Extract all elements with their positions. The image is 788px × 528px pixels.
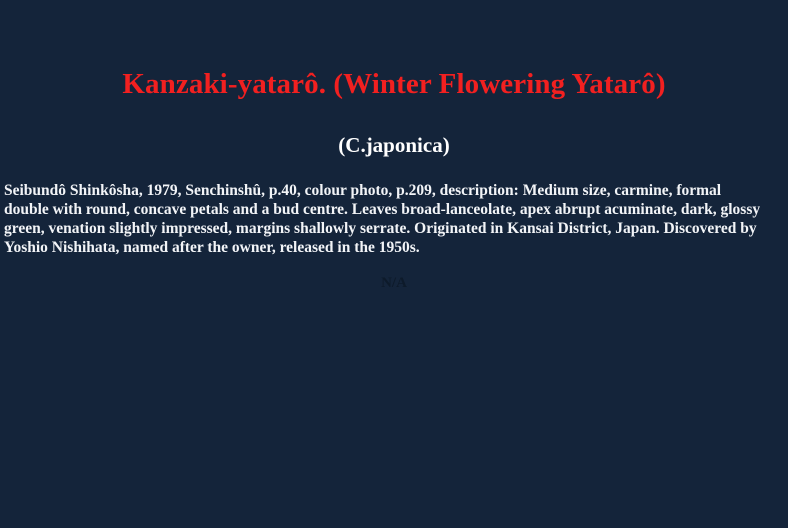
cultivar-page: Kanzaki-yatarô. (Winter Flowering Yatarô… bbox=[0, 0, 788, 528]
species-subtitle: (C.japonica) bbox=[0, 132, 788, 158]
cultivar-image-placeholder: N/A bbox=[0, 274, 788, 293]
description-text: Seibundô Shinkôsha, 1979, Senchinshû, p.… bbox=[4, 181, 766, 258]
image-alt-text: N/A bbox=[381, 275, 407, 291]
page-title: Kanzaki-yatarô. (Winter Flowering Yatarô… bbox=[0, 67, 788, 101]
